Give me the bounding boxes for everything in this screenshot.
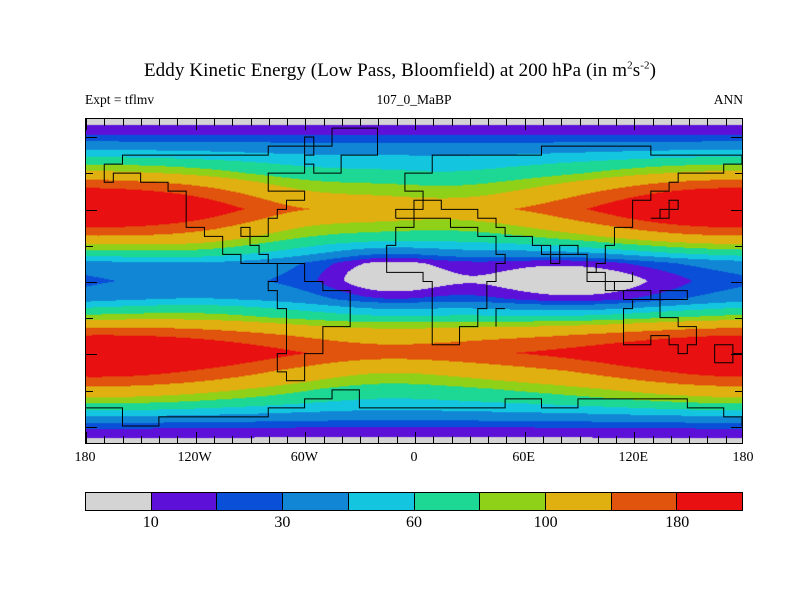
x-axis-label: 60W: [291, 450, 318, 466]
x-axis-minor-tick: [104, 119, 105, 126]
x-axis-minor-tick: [123, 119, 124, 126]
chart-title: Eddy Kinetic Energy (Low Pass, Bloomfiel…: [0, 60, 800, 82]
x-axis-minor-tick: [488, 436, 489, 443]
x-axis-tick: [196, 119, 197, 130]
x-axis-minor-tick: [433, 436, 434, 443]
colorbar-swatch: [216, 493, 282, 510]
colorbar-swatch: [348, 493, 414, 510]
coastline: [387, 218, 505, 344]
y-axis-tick: [731, 354, 742, 355]
x-axis-tick: [634, 119, 635, 130]
x-axis-minor-tick: [689, 119, 690, 126]
y-axis-minor-tick: [735, 391, 742, 392]
y-axis-minor-tick: [86, 391, 93, 392]
x-axis-minor-tick: [360, 119, 361, 126]
x-axis-minor-tick: [543, 119, 544, 126]
x-axis-minor-tick: [506, 436, 507, 443]
x-axis-minor-tick: [141, 436, 142, 443]
x-axis-tick: [305, 119, 306, 130]
x-axis-minor-tick: [561, 436, 562, 443]
colorbar-swatch: [479, 493, 545, 510]
x-axis-minor-tick: [671, 119, 672, 126]
x-axis-minor-tick: [104, 436, 105, 443]
y-axis-tick: [86, 427, 97, 428]
x-axis-minor-tick: [689, 436, 690, 443]
x-axis-minor-tick: [324, 436, 325, 443]
coastline: [86, 390, 742, 426]
x-axis-minor-tick: [598, 119, 599, 126]
x-axis-label: 180: [733, 450, 754, 466]
colorbar-swatch: [282, 493, 348, 510]
colorbar-swatch: [151, 493, 217, 510]
coastline: [396, 146, 742, 272]
colorbar-label: 60: [406, 514, 422, 532]
x-axis-tick: [415, 119, 416, 130]
colorbar-swatch: [611, 493, 677, 510]
coastline-overlay: [86, 119, 742, 444]
y-axis-minor-tick: [86, 318, 93, 319]
x-axis-minor-tick: [707, 119, 708, 126]
coastline: [624, 300, 697, 354]
x-axis-minor-tick: [543, 436, 544, 443]
coastline: [496, 309, 505, 327]
x-axis-minor-tick: [287, 436, 288, 443]
x-axis-tick: [525, 432, 526, 443]
x-axis-minor-tick: [159, 436, 160, 443]
x-axis-minor-tick: [580, 119, 581, 126]
chart-subheader: Expt = tflmv 107_0_MaBP ANN: [85, 92, 743, 112]
colorbar-label: 180: [665, 514, 689, 532]
colorbar-label: 10: [143, 514, 159, 532]
x-axis-minor-tick: [214, 436, 215, 443]
coastline: [587, 272, 687, 299]
y-axis-tick: [731, 427, 742, 428]
x-axis-minor-tick: [378, 436, 379, 443]
chart-title-end: ): [650, 60, 656, 81]
x-axis-minor-tick: [378, 119, 379, 126]
x-axis-minor-tick: [671, 436, 672, 443]
x-axis-minor-tick: [488, 119, 489, 126]
x-axis-minor-tick: [232, 119, 233, 126]
x-axis-minor-tick: [397, 436, 398, 443]
x-axis-label: 60E: [512, 450, 535, 466]
x-axis-minor-tick: [470, 436, 471, 443]
x-axis-minor-tick: [324, 119, 325, 126]
y-axis-tick: [86, 282, 97, 283]
x-axis-tick: [86, 119, 87, 130]
x-axis-minor-tick: [251, 436, 252, 443]
colorbar-swatch: [414, 493, 480, 510]
x-axis-minor-tick: [397, 119, 398, 126]
x-axis-minor-tick: [561, 119, 562, 126]
x-axis-minor-tick: [707, 436, 708, 443]
y-axis-tick: [86, 137, 97, 138]
x-axis-tick: [525, 119, 526, 130]
x-axis-label: 120E: [619, 450, 649, 466]
y-axis-minor-tick: [735, 318, 742, 319]
y-axis-tick: [86, 210, 97, 211]
x-axis-tick: [196, 432, 197, 443]
colorbar-swatch: [86, 493, 151, 510]
y-axis-tick: [731, 282, 742, 283]
x-axis-minor-tick: [269, 119, 270, 126]
x-axis-minor-tick: [232, 436, 233, 443]
x-axis-minor-tick: [506, 119, 507, 126]
y-axis-tick: [731, 210, 742, 211]
x-axis-minor-tick: [653, 119, 654, 126]
x-axis-label: 120W: [178, 450, 212, 466]
colorbar-swatch: [545, 493, 611, 510]
season-label: ANN: [714, 92, 743, 108]
chart-title-main: Eddy Kinetic Energy (Low Pass, Bloomfiel…: [144, 60, 627, 81]
x-axis-minor-tick: [287, 119, 288, 126]
case-name-label: 107_0_MaBP: [85, 92, 743, 108]
x-axis-minor-tick: [360, 436, 361, 443]
x-axis-minor-tick: [616, 119, 617, 126]
x-axis-minor-tick: [598, 436, 599, 443]
x-axis-label: 180: [75, 450, 96, 466]
y-axis-minor-tick: [735, 173, 742, 174]
x-axis-minor-tick: [470, 119, 471, 126]
y-axis-minor-tick: [735, 246, 742, 247]
x-axis-minor-tick: [726, 436, 727, 443]
x-axis-minor-tick: [616, 436, 617, 443]
x-axis-minor-tick: [452, 436, 453, 443]
x-axis-minor-tick: [177, 119, 178, 126]
chart-title-exponent-2: -2: [640, 60, 649, 72]
x-axis-minor-tick: [177, 436, 178, 443]
coastline: [614, 272, 632, 290]
y-axis-minor-tick: [86, 173, 93, 174]
x-axis-minor-tick: [269, 436, 270, 443]
x-axis-minor-tick: [433, 119, 434, 126]
coastline: [104, 137, 350, 381]
y-axis-tick: [731, 137, 742, 138]
x-axis-minor-tick: [726, 119, 727, 126]
x-axis-tick: [86, 432, 87, 443]
x-axis-minor-tick: [123, 436, 124, 443]
coastline: [651, 200, 678, 218]
map-plot-area: [85, 118, 743, 444]
x-axis-minor-tick: [159, 119, 160, 126]
colorbar-label: 30: [274, 514, 290, 532]
x-axis-tick: [305, 432, 306, 443]
colorbar: [85, 492, 743, 511]
x-axis-minor-tick: [342, 119, 343, 126]
colorbar-label: 100: [534, 514, 558, 532]
x-axis-minor-tick: [342, 436, 343, 443]
x-axis-minor-tick: [580, 436, 581, 443]
x-axis-minor-tick: [141, 119, 142, 126]
x-axis-tick: [634, 432, 635, 443]
coastline: [305, 128, 378, 173]
x-axis-label: 0: [411, 450, 418, 466]
x-axis-tick: [415, 432, 416, 443]
x-axis-minor-tick: [653, 436, 654, 443]
x-axis-minor-tick: [251, 119, 252, 126]
x-axis-minor-tick: [214, 119, 215, 126]
y-axis-minor-tick: [86, 246, 93, 247]
colorbar-swatch: [676, 493, 742, 510]
y-axis-tick: [86, 354, 97, 355]
x-axis-minor-tick: [452, 119, 453, 126]
